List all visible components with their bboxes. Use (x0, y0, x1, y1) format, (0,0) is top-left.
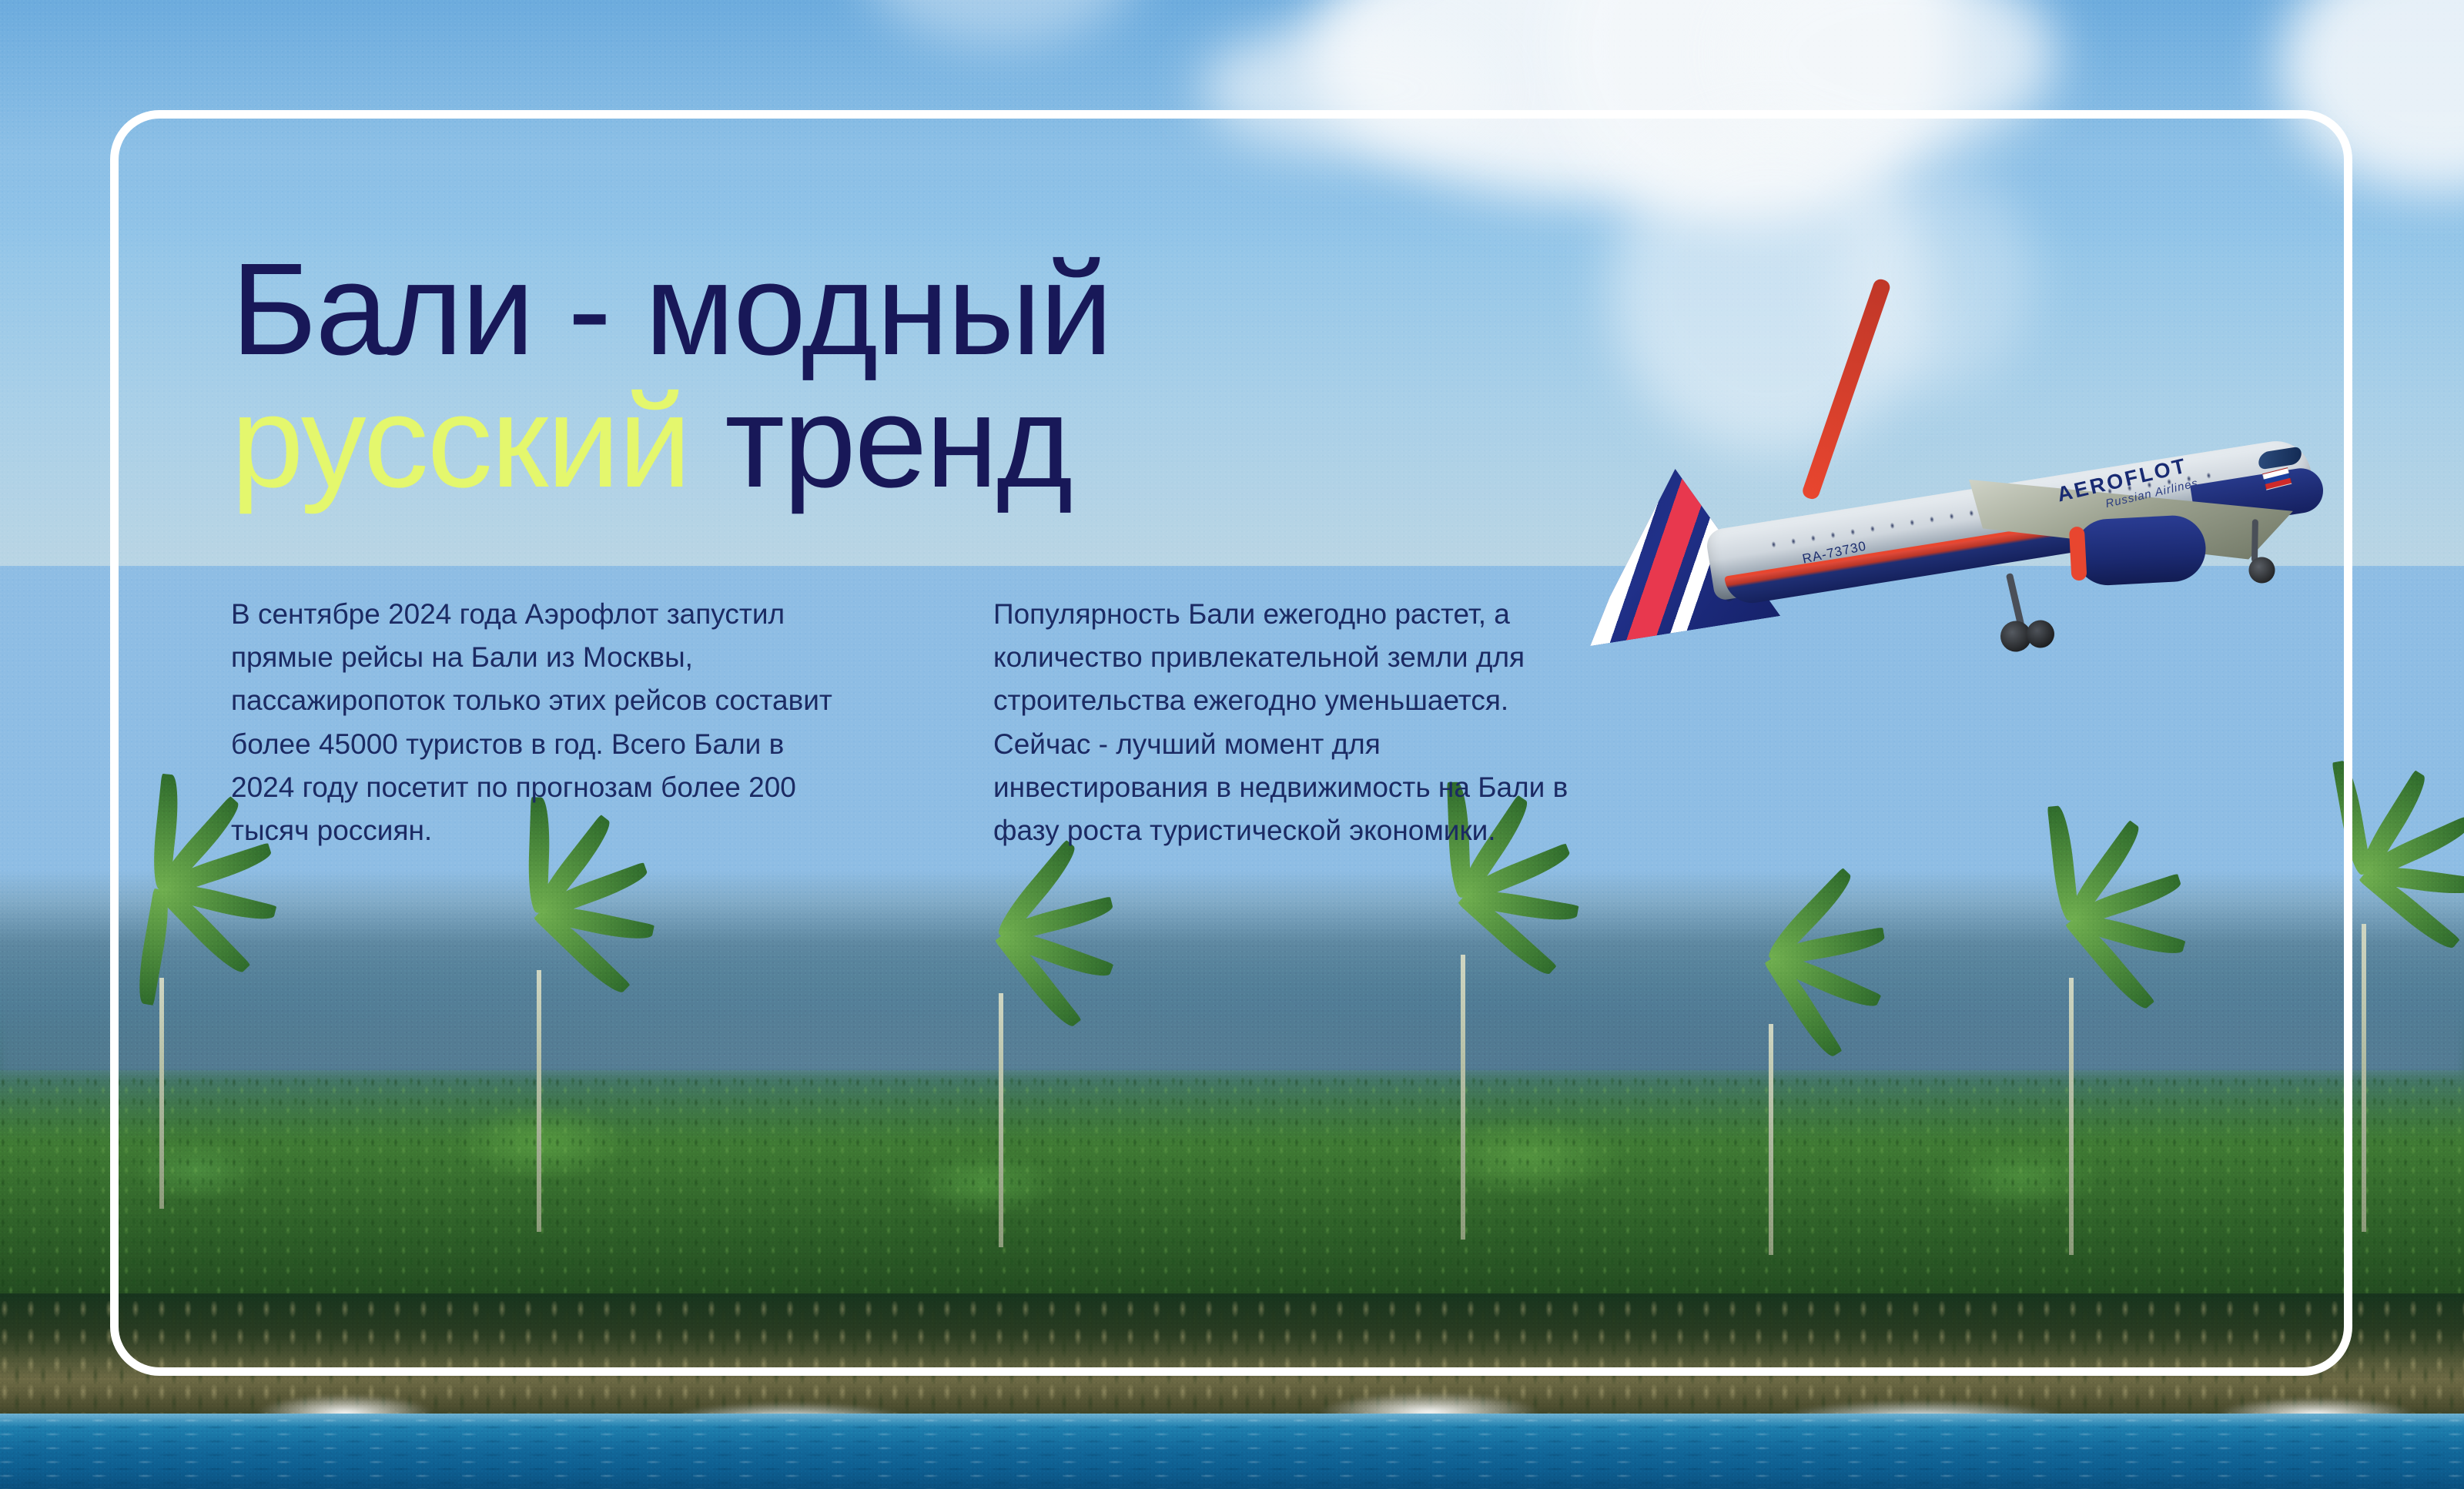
main-gear-strut (2006, 573, 2025, 627)
headline-accent-word: русский (231, 369, 690, 515)
poster-canvas: Бали - модный русский тренд В сентябре 2… (0, 0, 2464, 1489)
main-gear-wheel (2024, 618, 2056, 650)
body-column-right: Популярность Бали ежегодно растет, а кол… (993, 593, 1602, 852)
headline-line-1: Бали - модный (231, 236, 1111, 383)
poster-content: Бали - модный русский тренд В сентябре 2… (0, 0, 2464, 1489)
engine-nacelle (2073, 514, 2207, 587)
page-title: Бали - модный русский тренд (231, 245, 1809, 507)
nose-gear-strut (2251, 519, 2258, 562)
body-column-left: В сентябре 2024 года Аэрофлот запустил п… (231, 593, 839, 852)
headline-line-2-rest: тренд (725, 369, 1071, 515)
headline-line-2: русский тренд (231, 377, 1809, 507)
rear-wing (1801, 277, 1892, 501)
body-paragraph: В сентябре 2024 года Аэрофлот запустил п… (231, 593, 839, 852)
body-paragraph: Популярность Бали ежегодно растет, а кол… (993, 593, 1602, 852)
